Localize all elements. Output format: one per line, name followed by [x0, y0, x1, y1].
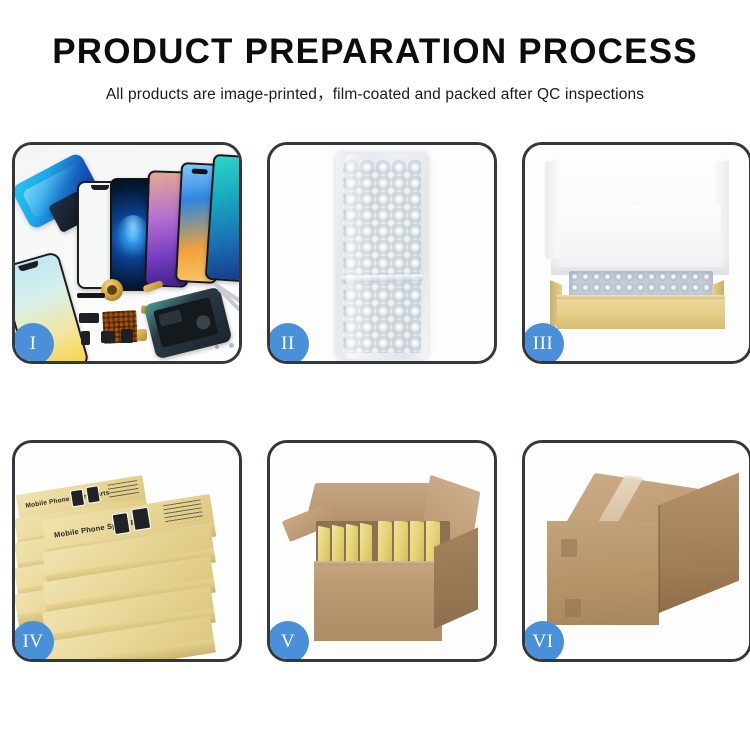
page-title: PRODUCT PREPARATION PROCESS — [0, 34, 750, 71]
step-5-image — [270, 443, 494, 659]
carton-handle-tab-icon — [561, 539, 577, 557]
step-1-image — [15, 145, 239, 361]
page-subtitle: All products are image-printed，film-coat… — [0, 82, 750, 104]
step-badge-3: III — [522, 323, 564, 364]
speaker-part-icon — [121, 329, 133, 343]
step-badge-4: IV — [12, 621, 54, 662]
page-header: PRODUCT PREPARATION PROCESS All products… — [0, 0, 750, 104]
step-panel-6[interactable]: VI Sealed shipping carton ready for disp… — [522, 440, 750, 662]
step-panel-1[interactable]: I Mobile phone LCD screens and spare par… — [12, 142, 242, 364]
screw-part-icon — [229, 343, 234, 348]
step-panel-4[interactable]: Mobile Phone Spare Parts Mobile Phone Sp… — [12, 440, 242, 662]
step-6-image — [525, 443, 749, 659]
step-badge-5: V — [267, 621, 309, 662]
carton-front-panel-icon — [314, 565, 442, 641]
connector-block-part-icon — [79, 313, 99, 323]
step-badge-6: VI — [522, 621, 564, 662]
carton-handle-tab-icon — [565, 599, 581, 617]
bubble-wrap-pouch-icon — [336, 153, 428, 359]
kraft-tray-rim-icon — [557, 295, 725, 299]
step-panel-5[interactable]: V Boxes loaded into shipping carton — [267, 440, 497, 662]
carton-edge-icon — [658, 505, 660, 613]
sealed-carton-front-icon — [547, 521, 659, 625]
kraft-tray-front-icon — [557, 297, 725, 329]
vibration-motor-part-icon — [101, 279, 123, 301]
sim-tray-part-icon — [81, 331, 90, 345]
screw-part-icon — [215, 345, 219, 349]
carton-side-panel-icon — [434, 527, 478, 629]
step-2-image — [270, 145, 494, 361]
earpiece-part-icon — [77, 293, 105, 298]
step-panel-3[interactable]: III Bubble-wrapped product placed in kra… — [522, 142, 750, 364]
step-badge-1: I — [12, 323, 54, 364]
gold-button-part-icon — [137, 329, 147, 341]
step-panel-2[interactable]: II Product wrapped in bubble wrap — [267, 142, 497, 364]
camera-module-part-icon — [101, 331, 115, 343]
step-4-image: Mobile Phone Spare Parts Mobile Phone Sp… — [15, 443, 239, 659]
step-badge-2: II — [267, 323, 309, 364]
foam-sheet-icon — [559, 205, 721, 267]
process-steps-grid: I Mobile phone LCD screens and spare par… — [12, 142, 738, 682]
step-3-image — [525, 145, 749, 361]
